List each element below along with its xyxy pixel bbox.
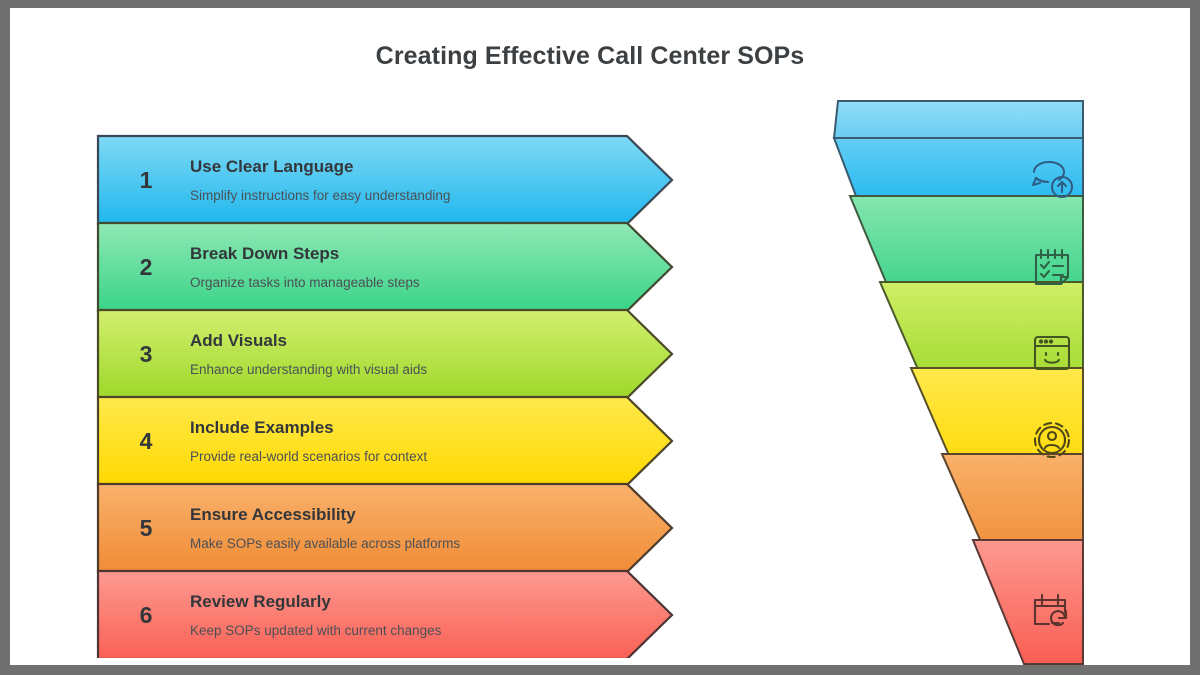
- step-number-6: 6: [126, 571, 166, 659]
- step-row-5[interactable]: 5 Ensure Accessibility Make SOPs easily …: [88, 484, 668, 572]
- step-title-2: Break Down Steps: [190, 244, 420, 264]
- step-description-4: Provide real-world scenarios for context: [190, 449, 427, 465]
- steps-list: 1 Use Clear Language Simplify instructio…: [88, 128, 678, 658]
- step-row-2[interactable]: 2 Break Down Steps Organize tasks into m…: [88, 223, 668, 311]
- page-title: Creating Effective Call Center SOPs: [10, 42, 1170, 71]
- step-number-5: 5: [126, 484, 166, 572]
- step-text-6: Review Regularly Keep SOPs updated with …: [190, 571, 441, 659]
- step-number-4: 4: [126, 397, 166, 485]
- step-row-4[interactable]: 4 Include Examples Provide real-world sc…: [88, 397, 668, 485]
- step-row-1[interactable]: 1 Use Clear Language Simplify instructio…: [88, 136, 668, 224]
- funnel-cap: [834, 101, 1083, 138]
- step-text-1: Use Clear Language Simplify instructions…: [190, 136, 450, 224]
- funnel-graphic: [810, 92, 1110, 665]
- step-description-3: Enhance understanding with visual aids: [190, 362, 427, 378]
- step-row-6[interactable]: 6 Review Regularly Keep SOPs updated wit…: [88, 571, 668, 659]
- step-title-1: Use Clear Language: [190, 157, 450, 177]
- step-description-5: Make SOPs easily available across platfo…: [190, 536, 460, 552]
- step-text-2: Break Down Steps Organize tasks into man…: [190, 223, 420, 311]
- checklist-notepad-icon: [1026, 241, 1078, 293]
- step-title-3: Add Visuals: [190, 331, 427, 351]
- slide-frame: Creating Effective Call Center SOPs: [0, 0, 1200, 675]
- step-title-5: Ensure Accessibility: [190, 505, 460, 525]
- user-target-circle-icon: [1026, 413, 1078, 465]
- step-row-3[interactable]: 3 Add Visuals Enhance understanding with…: [88, 310, 668, 398]
- browser-window-smiley-icon: [1026, 327, 1078, 379]
- step-number-1: 1: [126, 136, 166, 224]
- step-number-2: 2: [126, 223, 166, 311]
- step-text-3: Add Visuals Enhance understanding with v…: [190, 310, 427, 398]
- step-title-4: Include Examples: [190, 418, 427, 438]
- step-text-4: Include Examples Provide real-world scen…: [190, 397, 427, 485]
- step-number-3: 3: [126, 310, 166, 398]
- slide-canvas: Creating Effective Call Center SOPs: [10, 8, 1190, 665]
- step-text-5: Ensure Accessibility Make SOPs easily av…: [190, 484, 460, 572]
- step-title-6: Review Regularly: [190, 592, 441, 612]
- speech-bubble-up-arrow-icon: [1026, 154, 1078, 206]
- step-description-1: Simplify instructions for easy understan…: [190, 188, 450, 204]
- calendar-refresh-icon: [1026, 585, 1078, 637]
- step-description-2: Organize tasks into manageable steps: [190, 275, 420, 291]
- step-description-6: Keep SOPs updated with current changes: [190, 623, 441, 639]
